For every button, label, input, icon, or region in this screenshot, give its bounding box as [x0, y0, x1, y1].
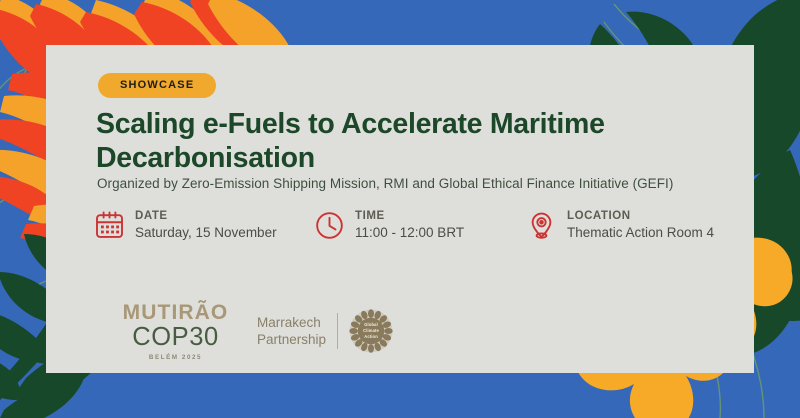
marrakech-partnership-logo: Marrakech Partnership [257, 309, 393, 353]
cop30-belem-text: BELÉM 2025 [118, 354, 233, 361]
meta-value-time: 11:00 - 12:00 BRT [355, 223, 464, 243]
meta-label-location: LOCATION [567, 209, 714, 223]
page-title: Scaling e-Fuels to Accelerate Maritime D… [96, 107, 716, 175]
event-card: SHOWCASE Scaling e-Fuels to Accelerate M… [46, 45, 754, 373]
meta-item-date: DATE Saturday, 15 November [94, 208, 314, 243]
event-organizer: Organized by Zero-Emission Shipping Miss… [97, 176, 673, 191]
marrakech-line-1: Marrakech [257, 314, 326, 332]
clock-icon [314, 208, 345, 242]
location-pin-icon [526, 208, 557, 242]
meta-label-time: TIME [355, 209, 464, 223]
gca-emblem-text: Global Climate Action [349, 309, 393, 353]
meta-value-location: Thematic Action Room 4 [567, 223, 714, 243]
meta-label-date: DATE [135, 209, 277, 223]
event-poster: SHOWCASE Scaling e-Fuels to Accelerate M… [0, 0, 800, 418]
cop30-mutirao-text: MUTIRÃO [118, 302, 233, 323]
marrakech-partnership-text: Marrakech Partnership [257, 314, 337, 350]
showcase-badge: SHOWCASE [98, 73, 216, 98]
cop30-logo: MUTIRÃO COP30 BELÉM 2025 [118, 302, 233, 361]
meta-value-date: Saturday, 15 November [135, 223, 277, 243]
meta-item-time: TIME 11:00 - 12:00 BRT [314, 208, 526, 243]
event-meta-row: DATE Saturday, 15 November TIME 11:00 - … [94, 208, 744, 243]
global-climate-action-emblem: Global Climate Action [349, 309, 393, 353]
logo-divider [337, 313, 338, 349]
calendar-icon [94, 208, 125, 242]
cop30-text: COP30 [118, 324, 233, 351]
meta-item-location: LOCATION Thematic Action Room 4 [526, 208, 714, 243]
logo-strip: MUTIRÃO COP30 BELÉM 2025 Marrakech Partn… [118, 302, 393, 361]
marrakech-line-2: Partnership [257, 331, 326, 349]
gca-line-3: Action [364, 334, 378, 340]
